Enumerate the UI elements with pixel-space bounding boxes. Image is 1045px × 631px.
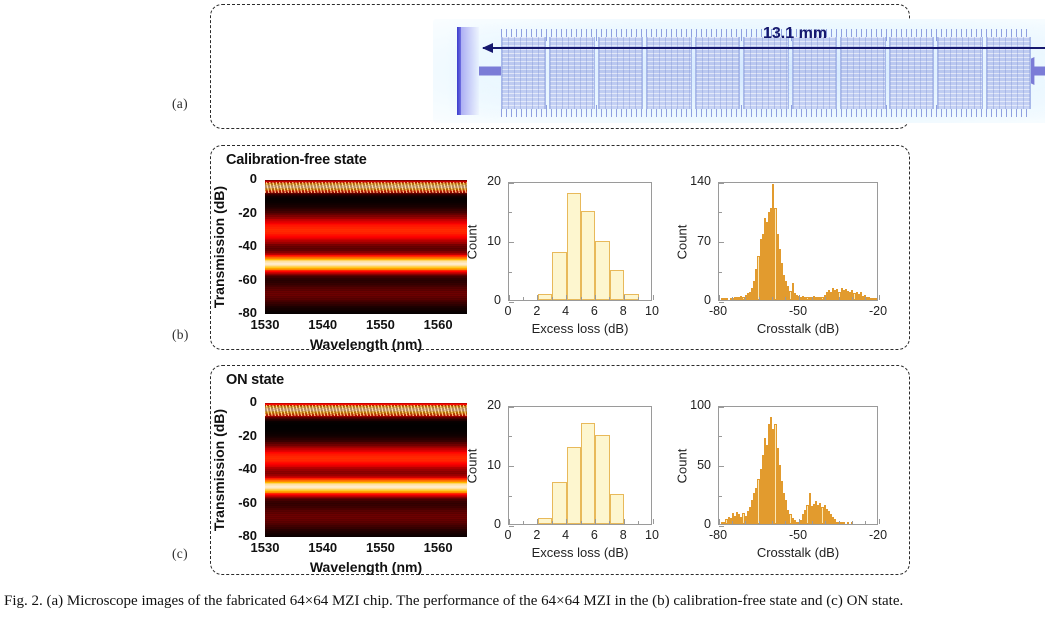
heatmap-image — [265, 180, 467, 314]
histogram-xtick — [772, 297, 773, 300]
histogram-frame — [508, 182, 652, 301]
histogram-ytick — [719, 407, 724, 408]
histogram-xtick — [609, 521, 610, 524]
heatmap-top-band-speckle — [265, 405, 467, 417]
histogram-ytick-label: 0 — [704, 517, 711, 531]
histogram-ytick — [719, 302, 724, 303]
heatmap-xtick-label: 1550 — [366, 317, 395, 332]
histogram-ylabel: Count — [465, 224, 480, 259]
histogram-xtick — [839, 297, 840, 300]
figure-caption: Fig. 2. (a) Microscope images of the fab… — [4, 592, 1042, 612]
histogram-b-crosstalk: -80-50-20070140Crosstalk (dB)Count — [718, 182, 878, 301]
histogram-bar — [624, 294, 638, 300]
histogram-xtick-label: 8 — [620, 528, 627, 542]
heatmap-ytick-label: 0 — [250, 171, 257, 186]
histogram-ytick — [509, 526, 514, 527]
histogram-xtick-label: 6 — [591, 304, 598, 318]
histogram-ytick — [719, 212, 722, 213]
heatmap-ytick-label: -20 — [238, 428, 257, 443]
histogram-c-excess-loss: 024681001020Excess loss (dB)Count — [508, 406, 652, 525]
panel-label-b: (b) — [172, 327, 189, 343]
histogram-xtick — [566, 519, 567, 524]
heatmap-ylabel: Transmission (dB) — [211, 409, 227, 531]
histogram-xtick — [552, 521, 553, 524]
histogram-b-excess-loss: 024681001020Excess loss (dB)Count — [508, 182, 652, 301]
histogram-xtick — [732, 297, 733, 300]
histogram-xtick — [638, 521, 639, 524]
panel-label-a: (a) — [172, 96, 188, 112]
histogram-xtick — [509, 519, 510, 524]
histogram-ytick-label: 0 — [704, 293, 711, 307]
histogram-xtick — [523, 297, 524, 300]
histogram-xtick — [825, 297, 826, 300]
histogram-xtick — [785, 521, 786, 524]
heatmap-xtick-label: 1540 — [308, 317, 337, 332]
histogram-xtick — [537, 295, 538, 300]
histogram-xtick-label: 0 — [505, 528, 512, 542]
histogram-xtick-label: -80 — [709, 304, 727, 318]
histogram-xtick — [624, 295, 625, 300]
heatmap-xtick-label: 1550 — [366, 540, 395, 555]
histogram-ytick-label: 10 — [487, 458, 501, 472]
histogram-xtick — [732, 521, 733, 524]
histogram-xlabel: Crosstalk (dB) — [757, 321, 839, 336]
histogram-frame — [718, 406, 878, 525]
panel-c-state-title: ON state — [226, 372, 284, 388]
histogram-bar — [538, 294, 552, 300]
histogram-xtick — [759, 521, 760, 524]
histogram-xtick-label: -50 — [789, 304, 807, 318]
panel-label-c: (c) — [172, 546, 188, 562]
histogram-xtick-label: 4 — [562, 304, 569, 318]
heatmap-top-band-speckle — [265, 182, 467, 194]
histogram-xtick — [839, 521, 840, 524]
histogram-xtick — [595, 295, 596, 300]
heatmap-ylabel: Transmission (dB) — [211, 186, 227, 308]
histogram-xtick — [638, 297, 639, 300]
histogram-ytick — [509, 183, 514, 184]
histogram-xtick — [552, 297, 553, 300]
histogram-xtick-label: -20 — [869, 304, 887, 318]
histogram-xtick — [852, 521, 853, 524]
histogram-xtick — [812, 521, 813, 524]
heatmap-ytick-label: -60 — [238, 495, 257, 510]
histogram-ytick-label: 50 — [697, 458, 711, 472]
heatmap-ytick-label: -40 — [238, 461, 257, 476]
histogram-bar — [567, 193, 581, 300]
heatmap-image — [265, 403, 467, 537]
panel-a-container: 13.1 mm 6 — [210, 4, 910, 129]
histogram-xtick — [759, 297, 760, 300]
chip-micrograph: 13.1 mm 6 — [433, 19, 1045, 123]
histogram-bar — [552, 482, 566, 524]
histogram-xtick — [865, 521, 866, 524]
histogram-xtick — [581, 297, 582, 300]
histogram-xtick — [745, 297, 746, 300]
heatmap-b: 0-20-40-60-801530154015501560Transmissio… — [265, 180, 467, 314]
heatmap-xtick-label: 1530 — [251, 317, 280, 332]
histogram-ytick — [509, 272, 512, 273]
histogram-ytick — [719, 436, 722, 437]
histogram-bar — [581, 423, 595, 524]
histogram-ytick-label: 10 — [487, 234, 501, 248]
histogram-xtick — [825, 521, 826, 524]
histogram-xtick — [785, 297, 786, 300]
histogram-ytick — [509, 436, 512, 437]
histogram-bar — [552, 252, 566, 300]
histogram-xtick — [852, 297, 853, 300]
histogram-ytick — [509, 466, 514, 467]
histogram-bar — [847, 522, 849, 524]
histogram-ylabel: Count — [675, 224, 690, 259]
histogram-xtick — [566, 295, 567, 300]
histogram-c-crosstalk: -80-50-20050100Crosstalk (dB)Count — [718, 406, 878, 525]
histogram-ytick — [509, 496, 512, 497]
dimension-label-horizontal: 13.1 mm — [763, 25, 827, 43]
histogram-bars — [509, 183, 651, 300]
histogram-frame — [508, 406, 652, 525]
histogram-xtick — [879, 295, 880, 300]
histogram-ytick-label: 140 — [690, 174, 711, 188]
histogram-ytick — [719, 242, 724, 243]
histogram-ylabel: Count — [675, 448, 690, 483]
histogram-ytick-label: 20 — [487, 398, 501, 412]
heatmap-xtick-label: 1530 — [251, 540, 280, 555]
histogram-xtick-label: 8 — [620, 304, 627, 318]
histogram-bar — [581, 211, 595, 300]
histogram-xtick — [609, 297, 610, 300]
histogram-ytick — [509, 212, 512, 213]
histogram-xtick — [537, 519, 538, 524]
histogram-ytick — [719, 526, 724, 527]
histogram-ytick — [509, 242, 514, 243]
histogram-bar — [595, 241, 609, 301]
histogram-bar — [567, 447, 581, 524]
histogram-xtick-label: 0 — [505, 304, 512, 318]
histogram-ytick — [719, 466, 724, 467]
histogram-bar — [875, 298, 877, 300]
histogram-bars — [719, 407, 877, 524]
heatmap-ytick-label: 0 — [250, 394, 257, 409]
panel-b-state-title: Calibration-free state — [226, 152, 367, 168]
histogram-xtick-label: -80 — [709, 528, 727, 542]
histogram-ylabel: Count — [465, 448, 480, 483]
histogram-xlabel: Crosstalk (dB) — [757, 545, 839, 560]
heatmap-xtick-label: 1560 — [424, 317, 453, 332]
histogram-xtick — [879, 519, 880, 524]
heatmap-texture — [265, 403, 467, 537]
histogram-xtick — [799, 519, 800, 524]
histogram-ytick — [719, 272, 722, 273]
histogram-bar — [725, 298, 727, 300]
histogram-xtick — [719, 295, 720, 300]
histogram-bars — [719, 183, 877, 300]
histogram-xtick — [772, 521, 773, 524]
histogram-xtick — [523, 521, 524, 524]
histogram-xtick — [812, 297, 813, 300]
heatmap-xlabel: Wavelength (nm) — [310, 336, 422, 352]
histogram-ytick-label: 70 — [697, 234, 711, 248]
histogram-ytick-label: 20 — [487, 174, 501, 188]
histogram-xtick-label: -20 — [869, 528, 887, 542]
histogram-xtick — [509, 295, 510, 300]
heatmap-xtick-label: 1560 — [424, 540, 453, 555]
histogram-ytick-label: 100 — [690, 398, 711, 412]
heatmap-texture — [265, 180, 467, 314]
histogram-bar — [538, 518, 552, 524]
heatmap-ytick-label: -60 — [238, 272, 257, 287]
heatmap-xlabel: Wavelength (nm) — [310, 559, 422, 575]
histogram-ytick — [719, 496, 722, 497]
histogram-xlabel: Excess loss (dB) — [532, 321, 629, 336]
histogram-xtick — [581, 521, 582, 524]
histogram-xtick — [653, 295, 654, 300]
histogram-xtick-label: 10 — [645, 304, 659, 318]
heatmap-xtick-label: 1540 — [308, 540, 337, 555]
histogram-xtick — [719, 519, 720, 524]
histogram-xtick-label: 6 — [591, 528, 598, 542]
histogram-xtick — [865, 297, 866, 300]
histogram-ytick-label: 0 — [494, 293, 501, 307]
histogram-bar — [610, 494, 624, 524]
histogram-bar — [595, 435, 609, 524]
histogram-xtick — [624, 519, 625, 524]
histogram-ytick — [719, 183, 724, 184]
horizontal-dimension-arrow — [483, 47, 1045, 49]
histogram-xtick-label: 4 — [562, 528, 569, 542]
histogram-ytick — [509, 407, 514, 408]
histogram-bar — [610, 270, 624, 300]
fiber-facet-left — [457, 27, 479, 115]
histogram-xtick — [745, 521, 746, 524]
histogram-xtick-label: -50 — [789, 528, 807, 542]
heatmap-c: 0-20-40-60-801530154015501560Transmissio… — [265, 403, 467, 537]
histogram-bar — [843, 522, 845, 524]
histogram-xtick-label: 2 — [533, 304, 540, 318]
histogram-ytick-label: 0 — [494, 517, 501, 531]
histogram-bars — [509, 407, 651, 524]
histogram-xtick — [653, 519, 654, 524]
heatmap-ytick-label: -20 — [238, 205, 257, 220]
histogram-ytick — [509, 302, 514, 303]
histogram-xtick-label: 10 — [645, 528, 659, 542]
histogram-xlabel: Excess loss (dB) — [532, 545, 629, 560]
histogram-frame — [718, 182, 878, 301]
histogram-xtick — [799, 295, 800, 300]
histogram-xtick-label: 2 — [533, 528, 540, 542]
figure-root: 13.1 mm 6 (a) Calibration-free state (b)… — [0, 0, 1045, 631]
heatmap-ytick-label: -40 — [238, 238, 257, 253]
histogram-xtick — [595, 519, 596, 524]
